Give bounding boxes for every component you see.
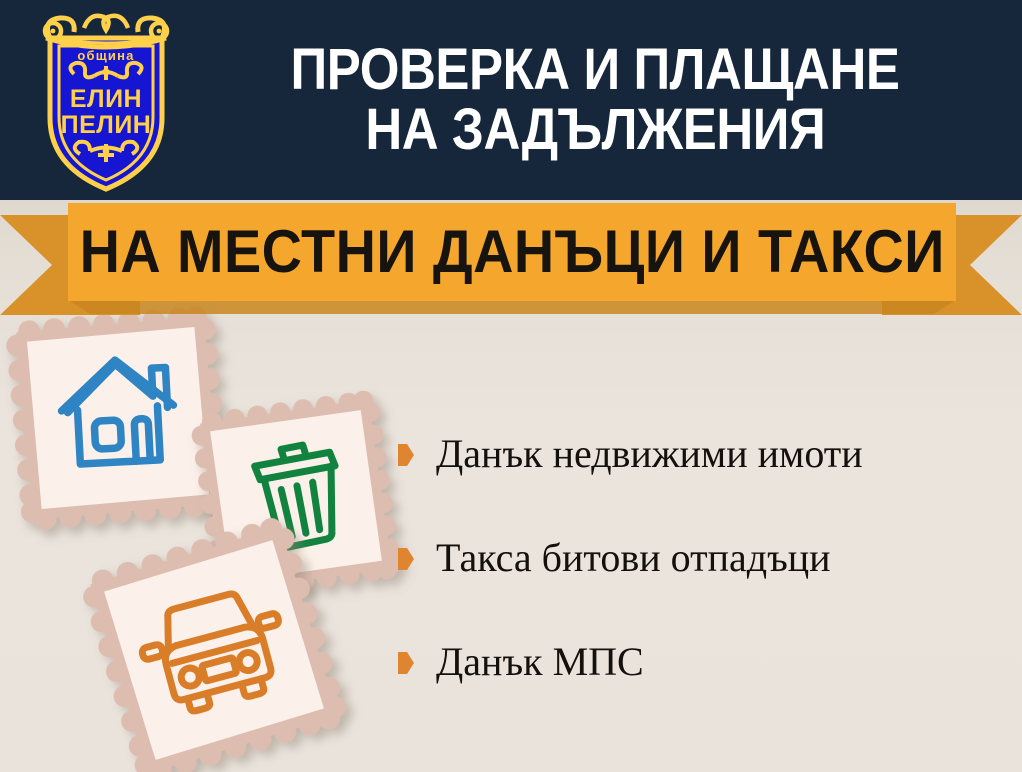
bullet-arrow-icon bbox=[398, 444, 414, 466]
title-line-2: НА ЗАДЪЛЖЕНИЯ bbox=[365, 100, 825, 160]
list-item-label: Данък недвижими имоти bbox=[436, 432, 863, 476]
stamp-vehicle bbox=[98, 534, 330, 766]
svg-text:община: община bbox=[77, 48, 134, 63]
list-item-label: Данък МПС bbox=[436, 640, 644, 684]
bullet-arrow-icon bbox=[398, 548, 414, 570]
municipality-logo: община ЕЛИН ПЕЛИН bbox=[26, 8, 186, 193]
poster-root: НА МЕСТНИ ДАНЪЦИ И ТАКСИ община bbox=[0, 0, 1022, 772]
bullet-arrow-icon bbox=[398, 652, 414, 674]
svg-text:ПЕЛИН: ПЕЛИН bbox=[61, 111, 152, 139]
tax-type-list: Данък недвижими имоти Такса битови отпад… bbox=[398, 428, 1008, 688]
ribbon-banner: НА МЕСТНИ ДАНЪЦИ И ТАКСИ bbox=[0, 196, 1022, 316]
list-item-label: Такса битови отпадъци bbox=[436, 536, 831, 580]
list-item[interactable]: Данък МПС bbox=[398, 636, 1008, 688]
ribbon-face: НА МЕСТНИ ДАНЪЦИ И ТАКСИ bbox=[68, 203, 956, 301]
poster-title: ПРОВЕРКА И ПЛАЩАНЕ НА ЗАДЪЛЖЕНИЯ bbox=[190, 20, 1000, 180]
title-line-1: ПРОВЕРКА И ПЛАЩАНЕ bbox=[291, 40, 900, 100]
ribbon-fold-shadow bbox=[68, 300, 956, 314]
list-item[interactable]: Такса битови отпадъци bbox=[398, 532, 1008, 584]
svg-text:ЕЛИН: ЕЛИН bbox=[70, 85, 142, 113]
ribbon-label: НА МЕСТНИ ДАНЪЦИ И ТАКСИ bbox=[79, 222, 944, 282]
shield-crest-icon: община ЕЛИН ПЕЛИН bbox=[26, 8, 186, 193]
list-item[interactable]: Данък недвижими имоти bbox=[398, 428, 1008, 480]
